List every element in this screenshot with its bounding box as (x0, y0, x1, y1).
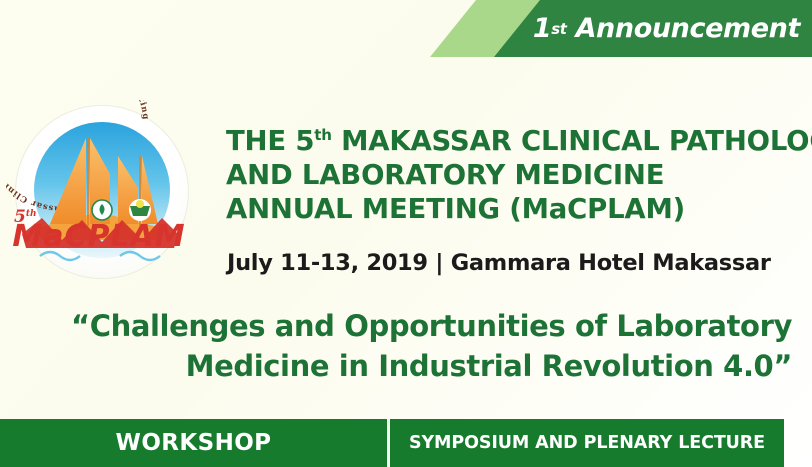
logo-acronym: MaCPLAM (12, 219, 185, 254)
logo-artwork: Makassar Clinical Pathology and Laborato… (6, 100, 192, 286)
poster-title: THE 5th MAKASSAR CLINICAL PATHOLOGY AND … (226, 124, 796, 226)
macplam-logo: Makassar Clinical Pathology and Laborato… (6, 100, 192, 286)
theme-line-1: “Challenges and Opportunities of Laborat… (60, 306, 792, 346)
logo-sail-left (50, 138, 86, 224)
symposium-section[interactable]: SYMPOSIUM AND PLENARY LECTURE (390, 419, 784, 467)
conference-poster: 1st Announcement Makassar Clinical Patho… (0, 0, 812, 467)
theme-quote: “Challenges and Opportunities of Laborat… (60, 306, 800, 386)
title-line-1: THE 5th MAKASSAR CLINICAL PATHOLOGY (226, 124, 796, 158)
title-line-1-suffix: MAKASSAR CLINICAL PATHOLOGY (332, 125, 812, 157)
theme-line-2: Medicine in Industrial Revolution 4.0” (60, 346, 792, 386)
announcement-number: 1 (533, 13, 551, 44)
workshop-section[interactable]: WORKSHOP (0, 419, 387, 467)
title-line-1-ordinal: th (314, 126, 331, 144)
title-line-1-prefix: THE 5 (226, 125, 314, 157)
date-venue-line: July 11-13, 2019 | Gammara Hotel Makassa… (227, 250, 771, 276)
title-line-3: ANNUAL MEETING (MaCPLAM) (226, 192, 796, 226)
announcement-banner: 1st Announcement (430, 0, 812, 57)
logo-emblem-right-dot (136, 200, 144, 208)
title-line-2: AND LABORATORY MEDICINE (226, 158, 796, 192)
bottom-section-bar: WORKSHOP SYMPOSIUM AND PLENARY LECTURE (0, 419, 784, 467)
announcement-label: Announcement (576, 13, 800, 44)
announcement-text: 1st Announcement (540, 0, 812, 57)
